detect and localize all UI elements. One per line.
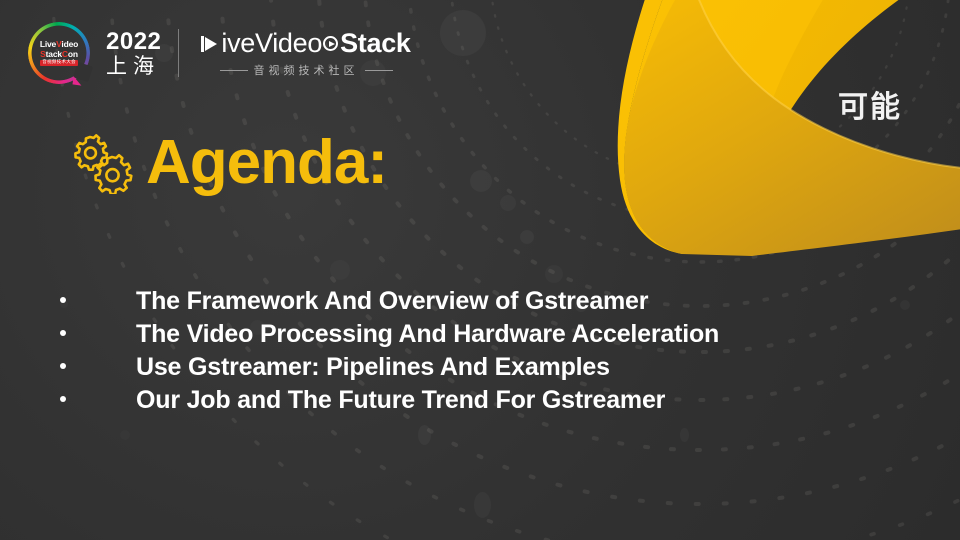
list-item: Use Gstreamer: Pipelines And Examples	[60, 351, 719, 384]
yellow-ribbon-graphic	[540, 0, 960, 270]
wordmark-subtitle: 音视频技术社区	[254, 62, 359, 78]
wordmark-live: ive	[221, 28, 255, 59]
conference-mark-text: LiveVideo StackCon 音视频技术大会	[28, 22, 90, 84]
list-item: Our Job and The Future Trend For Gstream…	[60, 384, 719, 417]
play-bar-icon	[201, 36, 220, 52]
bullet-dot	[60, 396, 66, 402]
year-label: 2022	[106, 29, 161, 54]
slide-canvas: 音 可能	[0, 0, 960, 540]
conf-mark-line-2: StackCon	[40, 50, 78, 60]
circle-play-icon	[323, 36, 338, 51]
conf-mark-badge: 音视频技术大会	[40, 60, 78, 66]
list-item-label: The Video Processing And Hardware Accele…	[136, 318, 719, 351]
logo-bar: LiveVideo StackCon 音视频技术大会 2022 上海 ive V…	[28, 22, 411, 84]
conference-logo-mark: LiveVideo StackCon 音视频技术大会	[28, 22, 90, 84]
wordmark-row: ive Video Stack	[201, 28, 410, 59]
subtitle-rule-right	[365, 70, 393, 71]
subtitle-rule-left	[220, 70, 248, 71]
gears-icon-group	[72, 132, 136, 194]
list-item: The Video Processing And Hardware Accele…	[60, 318, 719, 351]
livevideostack-wordmark: ive Video Stack 音视频技术社区	[201, 28, 410, 78]
page-title: Agenda:	[146, 132, 387, 194]
wordmark-video: Video	[255, 28, 322, 59]
wordmark-stack: Stack	[340, 28, 411, 59]
year-city-block: 2022 上海	[106, 29, 161, 78]
bullet-dot	[60, 297, 66, 303]
city-label: 上海	[106, 54, 161, 78]
list-item-label: Use Gstreamer: Pipelines And Examples	[136, 351, 610, 384]
agenda-list: The Framework And Overview of Gstreamer …	[60, 285, 719, 417]
list-item: The Framework And Overview of Gstreamer	[60, 285, 719, 318]
agenda-title-row: Agenda:	[72, 132, 387, 194]
bullet-dot	[60, 330, 66, 336]
header-divider	[178, 29, 179, 77]
bullet-dot	[60, 363, 66, 369]
wordmark-subtitle-row: 音视频技术社区	[220, 62, 393, 78]
list-item-label: The Framework And Overview of Gstreamer	[136, 285, 648, 318]
list-item-label: Our Job and The Future Trend For Gstream…	[136, 384, 665, 417]
